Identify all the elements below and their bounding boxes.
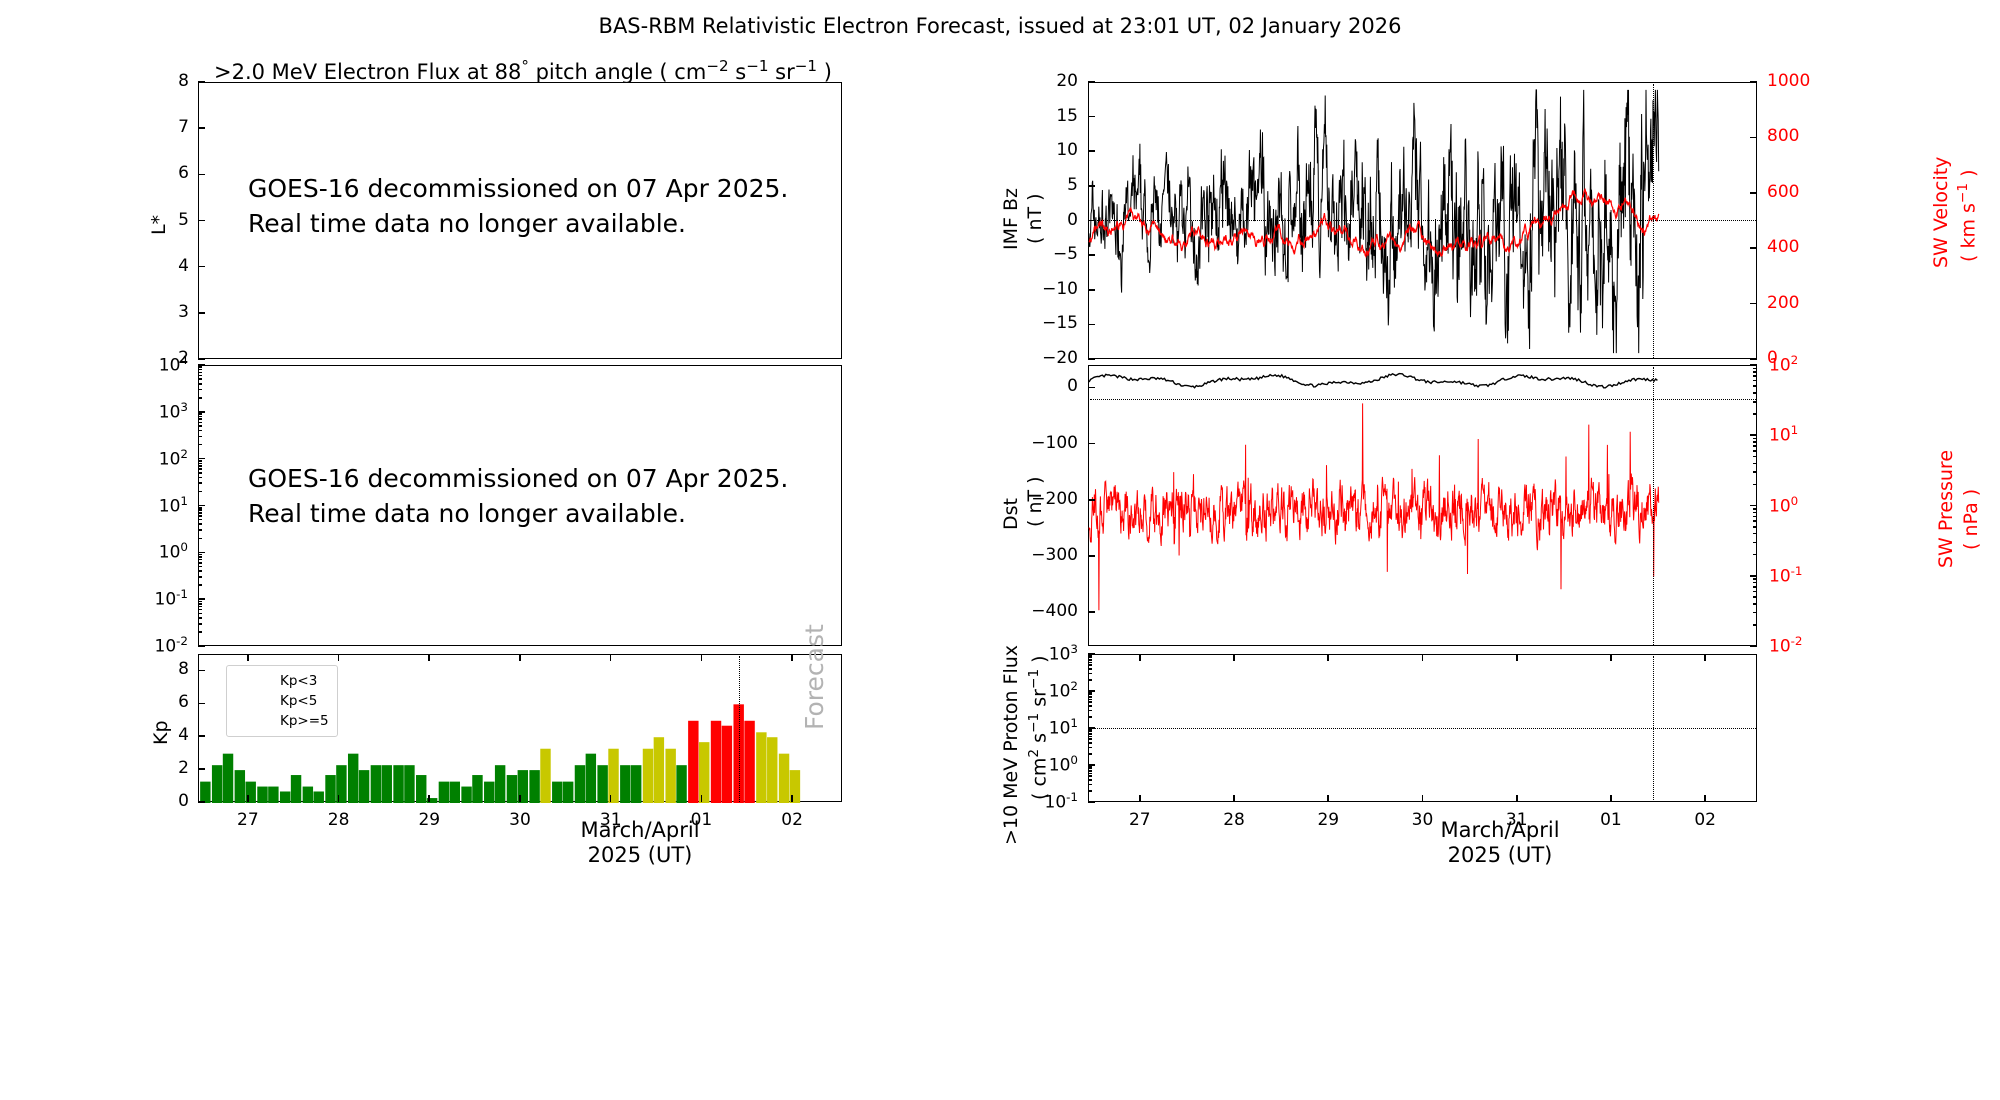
- proton-xtick-label: 29: [1317, 810, 1339, 830]
- axis-tick: [198, 609, 202, 611]
- axis-tick: [198, 375, 202, 377]
- axis-tick: [1753, 385, 1757, 387]
- axis-tick: [247, 654, 249, 661]
- axis-tick: [1139, 795, 1141, 802]
- axis-tick: [198, 507, 202, 509]
- kp-bar: [756, 732, 766, 803]
- kp-xlabel-line2: 2025 (UT): [588, 843, 693, 867]
- kp-ytick-label: 8: [178, 659, 189, 679]
- sw-velocity-ytick-label: 600: [1767, 182, 1799, 202]
- imf-bz-timeseries: [1089, 83, 1758, 360]
- left-column-subtitle: >2.0 MeV Electron Flux at 88° pitch angl…: [214, 57, 832, 84]
- axis-tick: [1088, 254, 1095, 256]
- bz-ytick-label: 0: [1067, 210, 1078, 230]
- axis-tick: [198, 538, 202, 540]
- axis-tick: [198, 576, 202, 578]
- axis-tick: [1088, 764, 1095, 766]
- axis-tick: [1088, 150, 1095, 152]
- axis-tick: [198, 444, 202, 446]
- axis-tick: [1750, 137, 1757, 139]
- axis-tick: [1088, 747, 1092, 749]
- axis-tick: [1088, 694, 1092, 696]
- flux-ytick-label: 104: [159, 353, 188, 376]
- axis-tick: [198, 606, 202, 608]
- axis-tick: [1753, 438, 1757, 440]
- bz-ytick-label: 5: [1067, 175, 1078, 195]
- axis-tick: [198, 458, 205, 460]
- proton-threshold-line: [1090, 728, 1756, 729]
- bz-ytick-label: 20: [1056, 71, 1078, 91]
- axis-tick: [198, 523, 202, 525]
- lstar-ytick-label: 5: [178, 210, 189, 230]
- kp-bar: [711, 721, 721, 803]
- axis-tick: [1088, 733, 1092, 735]
- axis-tick: [198, 631, 202, 633]
- swv-unit: ( km s: [1957, 203, 1979, 262]
- kp-xtick-label: 29: [418, 810, 440, 830]
- axis-tick: [1088, 387, 1095, 389]
- axis-tick: [1753, 516, 1757, 518]
- kp-bar: [540, 749, 550, 803]
- axis-tick: [338, 654, 340, 661]
- axis-tick: [1088, 770, 1092, 772]
- axis-tick: [1088, 738, 1092, 740]
- kp-bar: [744, 721, 754, 803]
- kp-legend-swatch-green: [233, 675, 271, 688]
- axis-tick: [1088, 768, 1092, 770]
- axis-tick: [701, 654, 703, 661]
- axis-tick: [1088, 727, 1095, 729]
- kp-legend-swatch-yellow: [233, 695, 271, 708]
- kp-bar: [643, 749, 653, 803]
- proton-unit-s: s: [1028, 733, 1050, 749]
- kp-forecast-watermark: Forecast: [800, 624, 829, 730]
- kp-bar: [223, 754, 233, 803]
- dst-forecast-divider: [1653, 367, 1654, 645]
- unit-sr: sr: [769, 60, 795, 84]
- axis-tick: [247, 795, 249, 802]
- axis-tick: [1610, 654, 1612, 661]
- axis-tick: [198, 768, 205, 770]
- flux-message: GOES-16 decommissioned on 07 Apr 2025.Re…: [248, 462, 788, 531]
- axis-tick: [1753, 603, 1757, 605]
- axis-tick: [1088, 555, 1095, 557]
- axis-tick: [198, 529, 202, 531]
- sw-pressure-ytick-label: 100: [1769, 494, 1798, 517]
- kp-bar: [586, 754, 596, 803]
- axis-tick: [519, 795, 521, 802]
- proton-ytick-label: 102: [1049, 679, 1078, 702]
- axis-tick: [1753, 508, 1757, 510]
- axis-tick: [198, 562, 202, 564]
- subtitle-main: >2.0 MeV Electron Flux at 88: [214, 60, 521, 84]
- axis-tick: [1088, 655, 1092, 657]
- sw-velocity-label-line2: ( km s−1 ): [1955, 169, 1979, 262]
- axis-tick: [1088, 790, 1092, 792]
- axis-tick: [1516, 654, 1518, 661]
- dst-ytick-label: −100: [1031, 433, 1078, 453]
- sw-pressure-ytick-label: 10-1: [1769, 564, 1803, 587]
- axis-tick: [198, 519, 202, 521]
- kp-bar: [495, 765, 505, 803]
- kp-ytick-label: 2: [178, 758, 189, 778]
- proton-xtick-label: 27: [1129, 810, 1151, 830]
- bz-zero-line: [1090, 220, 1756, 221]
- axis-tick: [1753, 596, 1757, 598]
- axis-tick: [1610, 795, 1612, 802]
- axis-tick: [198, 413, 202, 415]
- axis-tick: [1088, 668, 1092, 670]
- axis-tick: [1139, 654, 1141, 661]
- kp-bar: [676, 765, 686, 803]
- axis-tick: [1753, 586, 1757, 588]
- axis-tick: [1088, 657, 1092, 659]
- proton-unit-exp1: 2: [1026, 749, 1042, 758]
- axis-tick: [198, 416, 202, 418]
- kp-bar: [257, 787, 267, 803]
- kp-forecast-divider: [739, 656, 740, 802]
- axis-tick: [1750, 81, 1757, 83]
- dst-zero-line: [1090, 399, 1756, 400]
- axis-tick: [1753, 463, 1757, 465]
- lstar-ytick-label: 7: [178, 117, 189, 137]
- axis-tick: [1088, 690, 1095, 692]
- sw-velocity-ytick-label: 800: [1767, 126, 1799, 146]
- axis-tick: [198, 598, 205, 600]
- proton-ylabel-line1: >10 MeV Proton Flux: [1000, 645, 1022, 845]
- kp-bar: [450, 782, 460, 803]
- axis-tick: [198, 566, 202, 568]
- axis-tick: [198, 422, 202, 424]
- axis-tick: [1088, 116, 1095, 118]
- axis-tick: [1704, 795, 1706, 802]
- axis-tick: [198, 430, 202, 432]
- kp-bar: [235, 770, 245, 803]
- kp-bar: [620, 765, 630, 803]
- axis-tick: [1753, 413, 1757, 415]
- kp-bar: [767, 737, 777, 803]
- axis-tick: [428, 795, 430, 802]
- kp-legend-item: Kp<5: [233, 691, 329, 711]
- axis-tick: [198, 436, 202, 438]
- axis-tick: [198, 369, 202, 371]
- axis-tick: [1088, 784, 1092, 786]
- axis-tick: [198, 425, 202, 427]
- kp-bar: [393, 765, 403, 803]
- sw-pressure-ytick-label: 10-2: [1769, 634, 1803, 657]
- axis-tick: [519, 654, 521, 661]
- kp-bar: [563, 782, 573, 803]
- axis-tick: [1088, 443, 1095, 445]
- dst-timeseries: [1089, 366, 1758, 647]
- axis-tick: [198, 366, 202, 368]
- axis-tick: [198, 477, 202, 479]
- axis-tick: [1088, 358, 1095, 360]
- axis-tick: [1753, 578, 1757, 580]
- kp-bar: [699, 742, 709, 803]
- axis-tick: [1753, 512, 1757, 514]
- kp-ytick-label: 6: [178, 692, 189, 712]
- kp-legend-item: Kp<3: [233, 671, 329, 691]
- kp-bar: [654, 737, 664, 803]
- kp-bar: [472, 775, 482, 803]
- axis-tick: [1753, 441, 1757, 443]
- axis-tick: [198, 81, 205, 83]
- axis-tick: [338, 795, 340, 802]
- axis-tick: [1088, 716, 1092, 718]
- axis-tick: [1750, 434, 1757, 436]
- axis-tick: [198, 603, 202, 605]
- kp-bar: [461, 787, 471, 803]
- axis-tick: [1088, 729, 1092, 731]
- flux-ytick-label: 102: [159, 447, 188, 470]
- kp-bar: [597, 765, 607, 803]
- kp-xtick-label: 02: [781, 810, 803, 830]
- axis-tick: [198, 617, 202, 619]
- axis-tick: [1088, 679, 1092, 681]
- unit-exp-3: −1: [795, 57, 817, 75]
- axis-tick: [198, 364, 205, 366]
- dst-ylabel-line1: Dst: [1000, 498, 1022, 530]
- kp-xtick-label: 28: [328, 810, 350, 830]
- lstar-ytick-label: 3: [178, 302, 189, 322]
- axis-tick: [1088, 766, 1092, 768]
- axis-tick: [1753, 456, 1757, 458]
- dst-ytick-label: 0: [1067, 376, 1078, 396]
- axis-tick: [1753, 450, 1757, 452]
- axis-tick: [198, 613, 202, 615]
- axis-tick: [198, 703, 205, 705]
- axis-tick: [791, 795, 793, 802]
- flux-ytick-label: 10-2: [155, 634, 189, 657]
- axis-tick: [198, 482, 202, 484]
- axis-tick: [198, 670, 205, 672]
- sw-pressure-ytick-label: 102: [1769, 353, 1798, 376]
- axis-tick: [198, 491, 202, 493]
- axis-tick: [198, 174, 205, 176]
- axis-tick: [1233, 795, 1235, 802]
- lstar-ytick-label: 4: [178, 256, 189, 276]
- axis-tick: [1088, 775, 1092, 777]
- axis-tick: [1088, 664, 1092, 666]
- axis-tick: [1753, 526, 1757, 528]
- axis-tick: [1753, 471, 1757, 473]
- axis-tick: [1753, 533, 1757, 535]
- kp-ytick-label: 0: [178, 791, 189, 811]
- unit-s: s: [729, 60, 747, 84]
- sw-pressure-label-line2: ( nPa ): [1960, 489, 1982, 550]
- kp-bar: [416, 775, 426, 803]
- axis-tick: [1088, 710, 1092, 712]
- kp-bar: [529, 770, 539, 803]
- bz-ytick-label: −15: [1042, 313, 1078, 333]
- axis-tick: [198, 556, 202, 558]
- axis-tick: [198, 554, 202, 556]
- axis-tick: [1088, 696, 1092, 698]
- axis-tick: [1088, 81, 1095, 83]
- axis-tick: [198, 570, 202, 572]
- subtitle-tail: pitch angle ( cm: [529, 60, 706, 84]
- axis-tick: [1750, 364, 1757, 366]
- axis-tick: [198, 645, 205, 647]
- proton-unit-exp3: −1: [1026, 669, 1042, 689]
- kp-bar: [280, 791, 290, 803]
- kp-bar: [575, 765, 585, 803]
- axis-tick: [198, 372, 202, 374]
- axis-tick: [1753, 371, 1757, 373]
- kp-bar: [507, 775, 517, 803]
- flux-ytick-label: 101: [159, 494, 188, 517]
- axis-tick: [1422, 795, 1424, 802]
- kp-ylabel: Kp: [150, 720, 172, 745]
- dst-ytick-label: −300: [1031, 545, 1078, 565]
- kp-legend-item: Kp>=5: [233, 711, 329, 731]
- axis-tick: [1753, 624, 1757, 626]
- axis-tick: [198, 623, 202, 625]
- axis-tick: [198, 552, 205, 554]
- kp-legend-swatch-red: [233, 715, 271, 728]
- axis-tick: [428, 654, 430, 661]
- proton-unit-exp2: −1: [1026, 713, 1042, 733]
- axis-tick: [198, 378, 202, 380]
- axis-tick: [1753, 368, 1757, 370]
- kp-bar: [552, 782, 562, 803]
- axis-tick: [1088, 220, 1095, 222]
- axis-tick: [1422, 654, 1424, 661]
- axis-tick: [1088, 289, 1095, 291]
- axis-tick: [1088, 324, 1095, 326]
- kp-bar: [268, 787, 278, 803]
- axis-tick: [1750, 192, 1757, 194]
- axis-tick: [1233, 654, 1235, 661]
- proton-xtick-label: 30: [1412, 810, 1434, 830]
- proton-ytick-label: 100: [1049, 753, 1078, 776]
- axis-tick: [198, 465, 202, 467]
- kp-bar: [688, 721, 698, 803]
- kp-bar: [779, 754, 789, 803]
- kp-xtick-label: 30: [509, 810, 531, 830]
- sw-velocity-ytick-label: 1000: [1767, 71, 1810, 91]
- axis-tick: [1704, 654, 1706, 661]
- kp-xlabel-line1: March/April: [580, 818, 699, 842]
- axis-tick: [198, 559, 202, 561]
- kp-legend-label: Kp<3: [280, 673, 317, 689]
- axis-tick: [198, 584, 202, 586]
- axis-tick: [610, 795, 612, 802]
- axis-tick: [1088, 673, 1092, 675]
- unit-exp-2: −1: [746, 57, 768, 75]
- flux-ytick-label: 100: [159, 540, 188, 563]
- kp-bar: [314, 791, 324, 803]
- axis-tick: [198, 220, 205, 222]
- lstar-message-line2: Real time data no longer available.: [248, 209, 686, 238]
- lstar-message-line1: GOES-16 decommissioned on 07 Apr 2025.: [248, 174, 788, 203]
- flux-message-line1: GOES-16 decommissioned on 07 Apr 2025.: [248, 464, 788, 493]
- kp-bar: [631, 765, 641, 803]
- dst-ytick-label: −400: [1031, 601, 1078, 621]
- axis-tick: [1753, 591, 1757, 593]
- kp-bar: [325, 775, 335, 803]
- sw-velocity-ytick-label: 400: [1767, 237, 1799, 257]
- axis-tick: [1753, 375, 1757, 377]
- axis-tick: [1327, 795, 1329, 802]
- axis-tick: [1088, 701, 1092, 703]
- bz-ytick-label: −20: [1042, 348, 1078, 368]
- axis-tick: [1088, 705, 1092, 707]
- axis-tick: [1750, 303, 1757, 305]
- kp-bar: [348, 754, 358, 803]
- axis-tick: [198, 512, 202, 514]
- proton-xtick-label: 01: [1600, 810, 1622, 830]
- degree-symbol: °: [521, 57, 529, 75]
- proton-xlabel-line1: March/April: [1440, 818, 1559, 842]
- axis-tick: [198, 383, 202, 385]
- kp-bar: [212, 765, 222, 803]
- proton-ytick-label: 10-1: [1045, 790, 1079, 813]
- axis-tick: [198, 266, 205, 268]
- axis-tick: [1088, 499, 1095, 501]
- kp-bar: [382, 765, 392, 803]
- proton-ylabel-line2: ( cm2 s−1 sr−1 ): [1026, 655, 1050, 800]
- axis-tick: [1753, 401, 1757, 403]
- axis-tick: [1750, 575, 1757, 577]
- axis-tick: [198, 472, 202, 474]
- axis-tick: [1088, 653, 1095, 655]
- axis-tick: [1753, 484, 1757, 486]
- sw-velocity-label-line1: SW Velocity: [1930, 157, 1952, 268]
- kp-bar: [371, 765, 381, 803]
- bz-ytick-label: 10: [1056, 140, 1078, 160]
- bz-ytick-label: −5: [1053, 244, 1078, 264]
- proton-forecast-divider: [1653, 656, 1654, 802]
- axis-tick: [791, 654, 793, 661]
- axis-tick: [198, 601, 202, 603]
- axis-tick: [198, 460, 202, 462]
- axis-tick: [198, 312, 205, 314]
- proton-xtick-label: 28: [1223, 810, 1245, 830]
- axis-tick: [198, 468, 202, 470]
- axis-tick: [1516, 795, 1518, 802]
- axis-tick: [1753, 380, 1757, 382]
- axis-tick: [1088, 611, 1095, 613]
- proton-unit-sr: sr: [1028, 689, 1050, 713]
- axis-tick: [1088, 753, 1092, 755]
- axis-tick: [1753, 582, 1757, 584]
- axis-tick: [198, 389, 202, 391]
- axis-tick: [198, 127, 205, 129]
- lstar-message: GOES-16 decommissioned on 07 Apr 2025.Re…: [248, 172, 788, 241]
- sw-pressure-ytick-label: 101: [1769, 423, 1798, 446]
- bz-ytick-label: −10: [1042, 279, 1078, 299]
- axis-tick: [1750, 358, 1757, 360]
- page-title: BAS-RBM Relativistic Electron Forecast, …: [599, 14, 1402, 38]
- proton-xtick-label: 02: [1694, 810, 1716, 830]
- axis-tick: [1750, 247, 1757, 249]
- proton-unit-close: ): [1028, 655, 1050, 668]
- dst-ytick-label: −200: [1031, 489, 1078, 509]
- axis-tick: [1088, 699, 1092, 701]
- kp-bar: [303, 787, 313, 803]
- flux-ytick-label: 10-1: [155, 587, 189, 610]
- kp-legend-label: Kp<5: [280, 693, 317, 709]
- kp-bar: [291, 775, 301, 803]
- kp-bar: [722, 726, 732, 803]
- axis-tick: [198, 418, 202, 420]
- axis-tick: [1088, 731, 1092, 733]
- axis-tick: [198, 735, 205, 737]
- bz-ylabel-line1: IMF Bz: [1000, 188, 1022, 250]
- kp-bar: [439, 782, 449, 803]
